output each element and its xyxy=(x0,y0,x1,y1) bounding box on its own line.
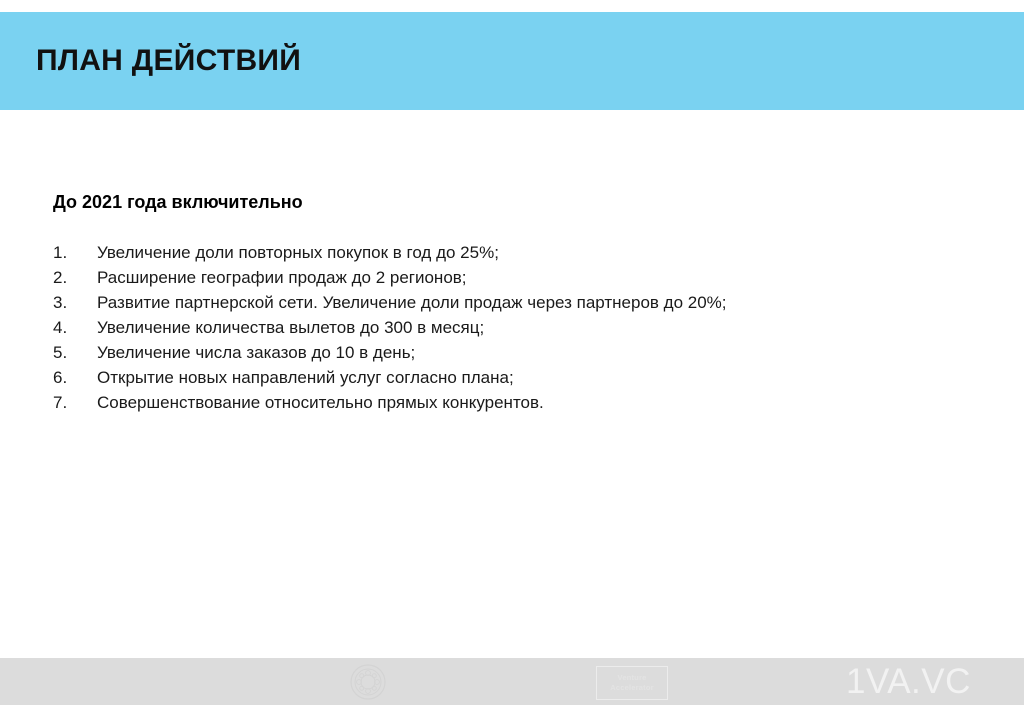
list-item-number: 5. xyxy=(53,340,97,365)
list-item-number: 4. xyxy=(53,315,97,340)
list-item-number: 2. xyxy=(53,265,97,290)
list-item-text: Расширение географии продаж до 2 регионо… xyxy=(97,265,773,290)
action-plan-list: 1. Увеличение доли повторных покупок в г… xyxy=(53,240,773,415)
slide: ПЛАН ДЕЙСТВИЙ До 2021 года включительно … xyxy=(0,0,1024,722)
list-item-text: Увеличение количества вылетов до 300 в м… xyxy=(97,315,773,340)
list-item: 2. Расширение географии продаж до 2 реги… xyxy=(53,265,773,290)
list-item-text: Развитие партнерской сети. Увеличение до… xyxy=(97,290,773,315)
brand-wordmark: 1VA.VC xyxy=(846,662,971,702)
footer-bottom-margin xyxy=(0,705,1024,722)
circular-seal-icon xyxy=(348,662,388,702)
venture-accelerator-logo: Venture Accelerator xyxy=(596,666,668,700)
list-item-number: 3. xyxy=(53,290,97,315)
page-title: ПЛАН ДЕЙСТВИЙ xyxy=(36,46,301,76)
list-item-text: Увеличение доли повторных покупок в год … xyxy=(97,240,773,265)
venture-accelerator-logo-line2: Accelerator xyxy=(610,683,653,693)
header-banner: ПЛАН ДЕЙСТВИЙ xyxy=(0,12,1024,110)
list-item: 3. Развитие партнерской сети. Увеличение… xyxy=(53,290,773,315)
list-item: 4. Увеличение количества вылетов до 300 … xyxy=(53,315,773,340)
list-item: 1. Увеличение доли повторных покупок в г… xyxy=(53,240,773,265)
list-item: 7. Совершенствование относительно прямых… xyxy=(53,390,773,415)
list-item: 5. Увеличение числа заказов до 10 в день… xyxy=(53,340,773,365)
list-item-text: Открытие новых направлений услуг согласн… xyxy=(97,365,773,390)
content-area: До 2021 года включительно 1. Увеличение … xyxy=(0,110,1024,658)
list-item-text: Увеличение числа заказов до 10 в день; xyxy=(97,340,773,365)
list-item: 6. Открытие новых направлений услуг согл… xyxy=(53,365,773,390)
list-item-number: 1. xyxy=(53,240,97,265)
list-item-number: 6. xyxy=(53,365,97,390)
list-item-number: 7. xyxy=(53,390,97,415)
venture-accelerator-logo-line1: Venture xyxy=(618,673,647,683)
section-subheading: До 2021 года включительно xyxy=(53,192,303,214)
list-item-text: Совершенствование относительно прямых ко… xyxy=(97,390,773,415)
